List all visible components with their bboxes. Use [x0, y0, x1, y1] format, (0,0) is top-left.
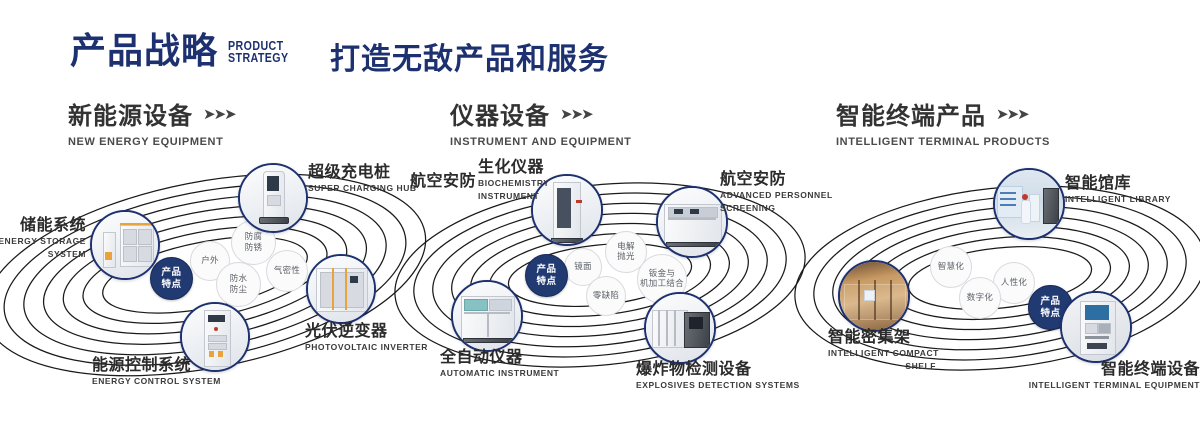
section-3-heading-cn: 智能终端产品 [836, 96, 986, 131]
node-label-energy-control-system: 能源控制系统 ENERGY CONTROL SYSTEM [92, 356, 221, 387]
node-advanced-personnel-screening[interactable] [656, 186, 728, 258]
node-label-intelligent-terminal-equipment: 智能终端设备 INTELLIGENT TERMINAL EQUIPMENT [1028, 360, 1200, 391]
node-label-intelligent-compact-shelf: 智能密集架 INTELLIGENT COMPACT SHELF [828, 328, 936, 371]
feature-1-2-l1: 防腐 [245, 232, 263, 242]
node-label-en-2: SYSTEM [0, 249, 86, 260]
feature-bubble-waterproof: 防水 防尘 [216, 262, 261, 307]
node-label-explosives-detection-systems: 爆炸物检测设备 EXPLOSIVES DETECTION SYSTEMS [636, 360, 800, 391]
node-energy-storage-system[interactable] [90, 210, 160, 280]
node-label-en-1: EXPLOSIVES DETECTION SYSTEMS [636, 380, 800, 391]
section-1-heading-en: NEW ENERGY EQUIPMENT [68, 136, 235, 148]
node-label-cn: 航空安防 [410, 172, 476, 190]
node-label-en-1: ENERGY STORAGE [0, 236, 86, 247]
section-3-heading-en: INTELLIGENT TERMINAL PRODUCTS [836, 136, 1050, 148]
feature-bubble-zero-defect: 零缺陷 [586, 276, 626, 316]
feature-3-1-l1: 智慧化 [938, 262, 964, 272]
node-label-en-1: INTELLIGENT LIBRARY [1065, 194, 1171, 205]
feature-1-3-l2: 防尘 [230, 285, 248, 295]
photo-pv-inverter [308, 256, 374, 322]
section-heading-cn-wrap: 仪器设备 ➤➤➤ [450, 96, 631, 131]
poster-canvas: 产品战略 PRODUCT STRATEGY 打造无敌产品和服务 新能源设备 ➤➤… [0, 0, 1200, 422]
center-badge-2-l1: 产品 [536, 264, 556, 275]
node-label-en-1: INTELLIGENT TERMINAL EQUIPMENT [1028, 380, 1200, 391]
feature-1-4-l1: 气密性 [274, 266, 300, 276]
node-label-automatic-instrument: 全自动仪器 AUTOMATIC INSTRUMENT [440, 348, 559, 379]
feature-2-4-l1: 零缺陷 [593, 291, 619, 301]
section-2-heading-en: INSTRUMENT AND EQUIPMENT [450, 136, 631, 148]
orbit-diagram-new-energy: 户外 防腐 防锈 防水 防尘 气密性 产品 特点 [0, 150, 420, 400]
masthead-title-en-line2: STRATEGY [228, 52, 289, 64]
node-label-intelligent-library: 智能馆库 INTELLIGENT LIBRARY [1065, 174, 1171, 205]
orbit-diagram-terminal: 智慧化 人性化 数字化 产品 特点 智 [800, 160, 1200, 400]
masthead: 产品战略 PRODUCT STRATEGY [70, 26, 302, 78]
chevron-right-icon: ➤➤➤ [996, 105, 1028, 123]
photo-personnel-screening [658, 188, 726, 256]
node-photovoltaic-inverter[interactable] [306, 254, 376, 324]
feature-3-3-l1: 数字化 [967, 293, 993, 303]
node-label-en-2: INSTRUMENT [478, 191, 549, 202]
node-label-cn: 爆炸物检测设备 [636, 360, 800, 378]
node-label-en-1: INTELLIGENT COMPACT [828, 348, 936, 359]
feature-1-1-l1: 户外 [201, 256, 219, 266]
node-intelligent-library[interactable] [993, 168, 1065, 240]
node-label-cn: 智能终端设备 [1028, 360, 1200, 378]
node-automatic-instrument[interactable] [451, 280, 523, 352]
node-label-cn: 智能馆库 [1065, 174, 1171, 192]
feature-3-2-l1: 人性化 [1001, 278, 1027, 288]
node-label-cn: 全自动仪器 [440, 348, 559, 366]
chevron-right-icon: ➤➤➤ [560, 105, 592, 123]
node-label-cn: 生化仪器 [478, 158, 549, 176]
node-label-aviation-security-left: 航空安防 [410, 172, 476, 190]
masthead-title-en: PRODUCT STRATEGY [228, 40, 289, 64]
node-intelligent-compact-shelf[interactable] [838, 260, 910, 332]
orbit-diagram-instrument: 镜面 电解 抛光 钣金与 机加工结合 零缺陷 产品 特点 航空安防 [400, 150, 800, 400]
center-badge-2-l2: 特点 [536, 276, 556, 287]
center-badge-3-l2: 特点 [1040, 308, 1060, 319]
center-badge-1-l2: 特点 [161, 279, 181, 290]
center-badge-1-l1: 产品 [161, 267, 181, 278]
section-heading-terminal: 智能终端产品 ➤➤➤ INTELLIGENT TERMINAL PRODUCTS [836, 96, 1050, 148]
section-1-heading-cn: 新能源设备 [68, 96, 193, 131]
node-explosives-detection-systems[interactable] [644, 292, 716, 364]
section-heading-new-energy: 新能源设备 ➤➤➤ NEW ENERGY EQUIPMENT [68, 96, 235, 148]
masthead-title-cn: 产品战略 [70, 34, 218, 70]
node-label-en-1: AUTOMATIC INSTRUMENT [440, 368, 559, 379]
feature-2-2-l2: 抛光 [617, 252, 635, 262]
photo-terminal-equipment [1062, 293, 1130, 361]
feature-2-3-l2: 机加工结合 [640, 279, 684, 289]
feature-2-2-l1: 电解 [617, 242, 635, 252]
photo-charging-hub [240, 165, 306, 231]
node-label-biochemistry-instrument: 生化仪器 BIOCHEMISTRY INSTRUMENT [478, 158, 549, 201]
node-intelligent-terminal-equipment[interactable] [1060, 291, 1132, 363]
feature-1-2-l2: 防锈 [245, 243, 263, 253]
node-super-charging-hub[interactable] [238, 163, 308, 233]
feature-2-1-l1: 镜面 [574, 262, 592, 272]
center-badge-3-l1: 产品 [1040, 296, 1060, 307]
photo-intelligent-library [995, 170, 1063, 238]
section-heading-instrument: 仪器设备 ➤➤➤ INSTRUMENT AND EQUIPMENT [450, 96, 631, 148]
node-label-en-2: SHELF [828, 361, 936, 372]
photo-compact-shelf [840, 262, 908, 330]
node-label-cn: 能源控制系统 [92, 356, 221, 374]
feature-2-3-l1: 钣金与 [649, 269, 675, 279]
section-heading-cn-wrap: 新能源设备 ➤➤➤ [68, 96, 235, 131]
chevron-right-icon: ➤➤➤ [203, 105, 235, 123]
node-label-cn: 智能密集架 [828, 328, 936, 346]
feature-bubble-digitalization: 数字化 [959, 277, 1001, 319]
node-label-cn: 储能系统 [0, 216, 86, 234]
node-label-energy-storage-system: 储能系统 ENERGY STORAGE SYSTEM [0, 216, 86, 259]
section-heading-cn-wrap: 智能终端产品 ➤➤➤ [836, 96, 1050, 131]
photo-explosives-detection [646, 294, 714, 362]
feature-bubble-airtight: 气密性 [266, 250, 308, 292]
center-badge-2: 产品 特点 [525, 254, 568, 297]
masthead-subtitle: 打造无敌产品和服务 [330, 34, 609, 78]
feature-1-3-l1: 防水 [230, 274, 248, 284]
photo-energy-storage [92, 212, 158, 278]
node-label-en-1: BIOCHEMISTRY [478, 178, 549, 189]
node-label-en-1: ENERGY CONTROL SYSTEM [92, 376, 221, 387]
section-2-heading-cn: 仪器设备 [450, 96, 550, 131]
photo-automatic-instrument [453, 282, 521, 350]
